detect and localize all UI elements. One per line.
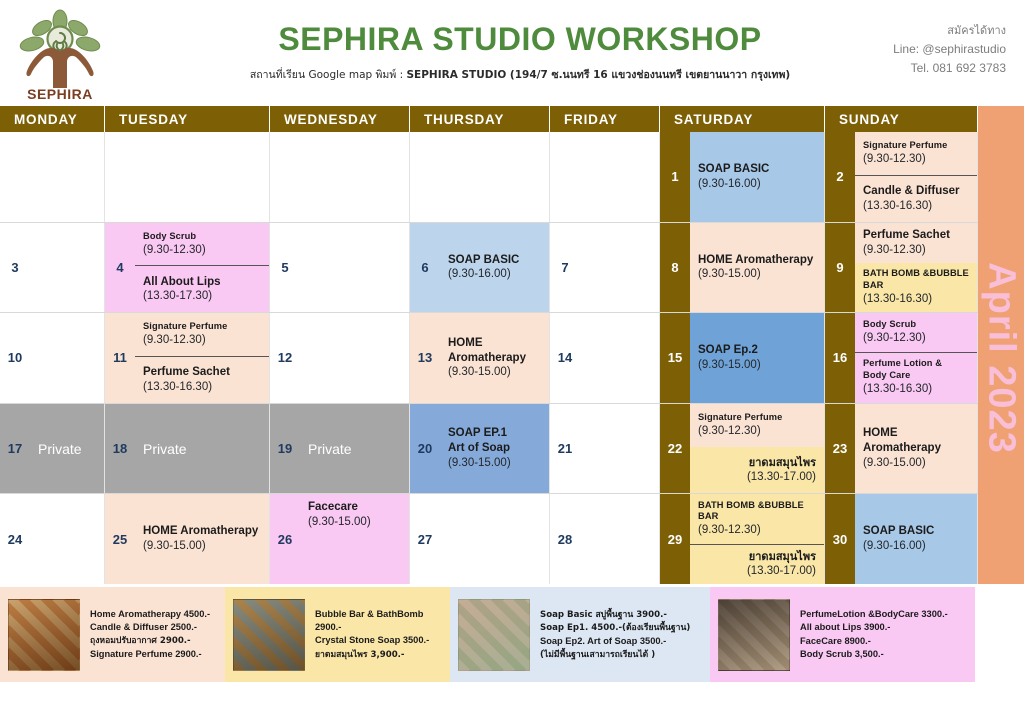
day-content <box>300 313 409 403</box>
legend-text-block: Bubble Bar & BathBomb2900.-Crystal Stone… <box>305 608 429 661</box>
calendar-day-cell[interactable] <box>0 132 105 222</box>
month-label: April 2023 <box>980 262 1023 454</box>
day-content: Private <box>300 404 409 494</box>
calendar-day-cell[interactable]: 18Private <box>105 404 270 494</box>
day-content: HOME Aromatherapy(9.30-15.00) <box>855 404 977 494</box>
day-content <box>300 132 409 222</box>
calendar-day-cell[interactable]: 10 <box>0 313 105 403</box>
event-title: SOAP BASIC <box>698 162 816 177</box>
day-header-spacer <box>978 106 1024 132</box>
calendar-day-cell[interactable]: 25HOME Aromatherapy(9.30-15.00) <box>105 494 270 584</box>
calendar-day-cell[interactable]: 13HOMEAromatherapy(9.30-15.00) <box>410 313 550 403</box>
event-time: (9.30-12.30) <box>863 331 969 346</box>
calendar-event[interactable]: Signature Perfume(9.30-12.30) <box>690 404 824 448</box>
legend-price-line: Bubble Bar & BathBomb <box>315 608 429 621</box>
day-number: 26 <box>270 494 300 584</box>
day-content <box>580 132 659 222</box>
legend-price-line: Soap Ep2. Art of Soap 3500.- <box>540 635 690 648</box>
day-number: 23 <box>825 404 855 494</box>
day-content <box>30 223 104 313</box>
title-block: SEPHIRA STUDIO WORKSHOP สถานที่เรียน Goo… <box>240 22 800 83</box>
price-legend-strip: Home Aromatherapy 4500.-Candle & Diffuse… <box>0 587 1024 682</box>
calendar-event[interactable]: HOME Aromatherapy(9.30-15.00) <box>690 223 824 313</box>
day-header-thursday: THURSDAY <box>410 106 550 132</box>
calendar-day-cell[interactable]: 26Facecare(9.30-15.00) <box>270 494 410 584</box>
day-content: SOAP BASIC(9.30-16.00) <box>440 223 549 313</box>
legend-card: Home Aromatherapy 4500.-Candle & Diffuse… <box>0 587 225 682</box>
legend-price-line: ยาดมสมุนไพร 3,900.- <box>315 648 429 661</box>
event-time: (13.30-16.30) <box>143 380 261 395</box>
day-number: 18 <box>105 404 135 494</box>
day-number <box>410 132 440 222</box>
legend-price-line: ถุงหอมปรับอากาศ 2900.- <box>90 634 210 647</box>
legend-price-line: Crystal Stone Soap 3500.- <box>315 634 429 647</box>
event-time: (9.30-12.30) <box>863 243 969 258</box>
calendar-event[interactable]: SOAP BASIC(9.30-16.00) <box>855 494 977 584</box>
event-title: HOME Aromatherapy <box>863 426 969 455</box>
calendar-week-row: 1011Signature Perfume(9.30-12.30)Perfume… <box>0 313 978 404</box>
day-number: 3 <box>0 223 30 313</box>
legend-price-line: Candle & Diffuser 2500.- <box>90 621 210 634</box>
event-title: Perfume Lotion &Body Care <box>863 358 969 382</box>
day-number: 16 <box>825 313 855 403</box>
day-number: 1 <box>660 132 690 222</box>
day-content: Signature Perfume(9.30-12.30)Candle & Di… <box>855 132 977 222</box>
calendar-event[interactable]: SOAP BASIC(9.30-16.00) <box>690 132 824 222</box>
contact-phone[interactable]: Tel. 081 692 3783 <box>893 59 1006 78</box>
calendar-event[interactable]: Perfume Sachet(13.30-16.30) <box>135 357 269 403</box>
calendar-day-cell[interactable]: 3 <box>0 223 105 313</box>
event-time: (9.30-12.30) <box>143 333 261 348</box>
calendar-week-row: 1SOAP BASIC(9.30-16.00)2Signature Perfum… <box>0 132 978 223</box>
day-content: SOAP EP.1Art of Soap(9.30-15.00) <box>440 404 549 494</box>
day-header-sunday: SUNDAY <box>825 106 978 132</box>
event-time: (9.30-12.30) <box>698 424 816 439</box>
calendar-day-cell[interactable]: 20SOAP EP.1Art of Soap(9.30-15.00) <box>410 404 550 494</box>
poster-header: SEPHIRA SEPHIRA STUDIO WORKSHOP สถานที่เ… <box>0 0 1024 106</box>
contact-signup-label: สมัครได้ทาง <box>893 22 1006 40</box>
legend-thai-text: Soap Basic สบู่พื้นฐาน 3900.- <box>540 610 667 620</box>
event-title: HOMEAromatherapy <box>448 336 541 365</box>
location-subtitle: สถานที่เรียน Google map พิมพ์ : SEPHIRA … <box>240 66 800 83</box>
calendar-day-cell[interactable]: 27 <box>410 494 550 584</box>
calendar-event[interactable]: Private <box>30 404 104 494</box>
event-time: (13.30-17.00) <box>747 564 816 579</box>
day-content: BATH BOMB &BUBBLE BAR(9.30-12.30)ยาดมสมุ… <box>690 494 824 584</box>
calendar-week-row: 2425HOME Aromatherapy(9.30-15.00)26Facec… <box>0 494 978 584</box>
day-content <box>580 223 659 313</box>
calendar-event[interactable]: Perfume Sachet(9.30-12.30) <box>855 223 977 263</box>
day-content: Body Scrub(9.30-12.30)Perfume Lotion &Bo… <box>855 313 977 403</box>
event-private-label: Private <box>308 441 401 457</box>
day-content <box>580 313 659 403</box>
event-time: (13.30-17.00) <box>747 470 816 485</box>
calendar-day-cell[interactable] <box>105 132 270 222</box>
calendar-day-cell[interactable]: 9Perfume Sachet(9.30-12.30)BATH BOMB &BU… <box>825 223 978 313</box>
day-header-tuesday: TUESDAY <box>105 106 270 132</box>
subtitle-address: SEPHIRA STUDIO (194/7 ซ.นนทรี 16 แขวงช่อ… <box>406 69 790 81</box>
legend-price-line: Signature Perfume 2900.- <box>90 648 210 661</box>
day-number: 14 <box>550 313 580 403</box>
day-number: 6 <box>410 223 440 313</box>
day-number: 13 <box>410 313 440 403</box>
day-number: 30 <box>825 494 855 584</box>
event-title: Body Scrub <box>143 231 261 243</box>
day-number: 12 <box>270 313 300 403</box>
day-number: 17 <box>0 404 30 494</box>
calendar-day-cell[interactable] <box>270 132 410 222</box>
day-content: Private <box>135 404 269 494</box>
event-time: (9.30-15.00) <box>863 456 969 471</box>
day-content: Private <box>30 404 104 494</box>
event-title: Perfume Sachet <box>143 365 261 380</box>
day-content: HOME Aromatherapy(9.30-15.00) <box>690 223 824 313</box>
event-time: (9.30-16.00) <box>863 539 969 554</box>
day-number <box>270 132 300 222</box>
event-private-label: Private <box>143 441 261 457</box>
day-number: 7 <box>550 223 580 313</box>
event-title: Facecare <box>308 500 401 515</box>
day-content <box>30 313 104 403</box>
event-time: (9.30-15.00) <box>448 365 541 380</box>
day-number: 27 <box>410 494 440 584</box>
legend-card: Soap Basic สบู่พื้นฐาน 3900.-Soap Ep1. 4… <box>450 587 710 682</box>
subtitle-prefix: สถานที่เรียน Google map พิมพ์ : <box>250 69 407 81</box>
calendar-event[interactable]: ยาดมสมุนไพร(13.30-17.00) <box>690 545 824 584</box>
legend-card: Bubble Bar & BathBomb2900.-Crystal Stone… <box>225 587 450 682</box>
event-title: Signature Perfume <box>143 321 261 333</box>
day-of-week-header: MONDAYTUESDAYWEDNESDAYTHURSDAYFRIDAYSATU… <box>0 106 1024 132</box>
calendar-day-cell[interactable]: 30SOAP BASIC(9.30-16.00) <box>825 494 978 584</box>
event-title: BATH BOMB &BUBBLE BAR <box>698 500 816 524</box>
day-content <box>440 132 549 222</box>
sephira-tree-hands-icon: SEPHIRA <box>12 6 108 102</box>
calendar-day-cell[interactable] <box>410 132 550 222</box>
calendar-week-row: 17Private18Private19Private20SOAP EP.1Ar… <box>0 404 978 495</box>
calendar-event[interactable]: Body Scrub(9.30-12.30) <box>135 223 269 267</box>
calendar-grid-wrapper: 1SOAP BASIC(9.30-16.00)2Signature Perfum… <box>0 132 1024 584</box>
calendar-day-cell[interactable]: 21 <box>550 404 660 494</box>
legend-price-line: (ไม่มีพื้นฐานเสามารถเรียนได้ ) <box>540 648 690 661</box>
calendar-day-cell[interactable]: 22Signature Perfume(9.30-12.30)ยาดมสมุนไ… <box>660 404 825 494</box>
day-header-saturday: SATURDAY <box>660 106 825 132</box>
day-content <box>580 494 659 584</box>
day-content: SOAP BASIC(9.30-16.00) <box>855 494 977 584</box>
day-number: 20 <box>410 404 440 494</box>
day-content <box>580 404 659 494</box>
day-number: 10 <box>0 313 30 403</box>
calendar-day-cell[interactable]: 29BATH BOMB &BUBBLE BAR(9.30-12.30)ยาดมส… <box>660 494 825 584</box>
legend-thai-text: ยาดมสมุนไพร 3,900.- <box>315 650 405 660</box>
logo-wordmark: SEPHIRA <box>27 86 93 102</box>
calendar-event[interactable]: SOAP EP.1Art of Soap(9.30-15.00) <box>440 404 549 494</box>
calendar-event[interactable]: SOAP Ep.2(9.30-15.00) <box>690 313 824 403</box>
day-content <box>135 132 269 222</box>
day-content <box>30 132 104 222</box>
day-content: Perfume Sachet(9.30-12.30)BATH BOMB &BUB… <box>855 223 977 313</box>
legend-text-block: PerfumeLotion &BodyCare 3300.-All about … <box>790 608 948 661</box>
calendar-event[interactable]: Candle & Diffuser(13.30-16.30) <box>855 176 977 222</box>
legend-thai-text: ถุงหอมปรับอากาศ 2900.- <box>90 636 191 646</box>
event-time: (9.30-12.30) <box>698 523 816 538</box>
event-time: (9.30-15.00) <box>448 456 541 471</box>
calendar-day-cell[interactable]: 6SOAP BASIC(9.30-16.00) <box>410 223 550 313</box>
calendar-event[interactable]: Body Scrub(9.30-12.30) <box>855 313 977 352</box>
day-content: Body Scrub(9.30-12.30)All About Lips(13.… <box>135 223 269 313</box>
page-title: SEPHIRA STUDIO WORKSHOP <box>240 22 800 57</box>
day-number <box>0 132 30 222</box>
calendar-day-cell[interactable]: 2Signature Perfume(9.30-12.30)Candle & D… <box>825 132 978 222</box>
day-number: 4 <box>105 223 135 313</box>
calendar-day-cell[interactable]: 24 <box>0 494 105 584</box>
event-title: Signature Perfume <box>863 140 969 152</box>
legend-card: PerfumeLotion &BodyCare 3300.-All about … <box>710 587 975 682</box>
day-number: 9 <box>825 223 855 313</box>
calendar-poster: SEPHIRA SEPHIRA STUDIO WORKSHOP สถานที่เ… <box>0 0 1024 713</box>
lotion-bottles-photo <box>718 599 790 671</box>
event-private-label: Private <box>38 441 96 457</box>
event-title: SOAP Ep.2 <box>698 343 816 358</box>
day-number: 2 <box>825 132 855 222</box>
calendar-event[interactable]: Private <box>300 404 409 494</box>
legend-text-block: Soap Basic สบู่พื้นฐาน 3900.-Soap Ep1. 4… <box>530 608 690 661</box>
legend-price-line: Home Aromatherapy 4500.- <box>90 608 210 621</box>
event-title: ยาดมสมุนไพร <box>749 456 816 470</box>
legend-price-line: 2900.- <box>315 621 429 634</box>
calendar-day-cell[interactable]: 7 <box>550 223 660 313</box>
day-number: 25 <box>105 494 135 584</box>
legend-price-line: Soap Basic สบู่พื้นฐาน 3900.- <box>540 608 690 621</box>
day-content <box>440 494 549 584</box>
day-number: 11 <box>105 313 135 403</box>
event-title: All About Lips <box>143 275 261 290</box>
calendar-event[interactable]: Facecare(9.30-15.00) <box>300 494 409 584</box>
day-content <box>300 223 409 313</box>
event-time: (9.30-16.00) <box>448 267 541 282</box>
month-sidebar: April 2023 <box>978 132 1024 584</box>
calendar-event[interactable]: ยาดมสมุนไพร(13.30-17.00) <box>690 447 824 493</box>
sephira-logo: SEPHIRA <box>12 6 108 102</box>
calendar-event[interactable]: BATH BOMB &BUBBLE BAR(9.30-12.30) <box>690 494 824 544</box>
event-title: Candle & Diffuser <box>863 184 969 199</box>
event-title: HOME Aromatherapy <box>143 524 261 539</box>
calendar-week-row: 34Body Scrub(9.30-12.30)All About Lips(1… <box>0 223 978 314</box>
calendar-event[interactable]: HOMEAromatherapy(9.30-15.00) <box>440 313 549 403</box>
day-content: HOME Aromatherapy(9.30-15.00) <box>135 494 269 584</box>
day-content: Signature Perfume(9.30-12.30)ยาดมสมุนไพร… <box>690 404 824 494</box>
calendar-event[interactable]: Perfume Lotion &Body Care(13.30-16.30) <box>855 353 977 403</box>
contact-line[interactable]: Line: @sephirastudio <box>893 40 1006 59</box>
calendar-day-cell[interactable]: 12 <box>270 313 410 403</box>
legend-price-line: PerfumeLotion &BodyCare 3300.- <box>800 608 948 621</box>
day-number: 29 <box>660 494 690 584</box>
event-time: (13.30-16.30) <box>863 199 969 214</box>
event-title: Perfume Sachet <box>863 228 969 243</box>
legend-thai-text: (ไม่มีพื้นฐานเสามารถเรียนได้ ) <box>540 650 655 660</box>
day-content: SOAP BASIC(9.30-16.00) <box>690 132 824 222</box>
calendar-day-cell[interactable]: 4Body Scrub(9.30-12.30)All About Lips(13… <box>105 223 270 313</box>
calendar-day-cell[interactable]: 11Signature Perfume(9.30-12.30)Perfume S… <box>105 313 270 403</box>
day-content: SOAP Ep.2(9.30-15.00) <box>690 313 824 403</box>
event-time: (9.30-15.00) <box>308 515 401 530</box>
event-time: (9.30-12.30) <box>863 152 969 167</box>
calendar-event[interactable]: BATH BOMB &BUBBLE BAR(13.30-16.30) <box>855 263 977 312</box>
calendar-day-cell[interactable]: 14 <box>550 313 660 403</box>
day-number: 15 <box>660 313 690 403</box>
home-aromatherapy-photo <box>8 599 80 671</box>
calendar-day-cell[interactable]: 16Body Scrub(9.30-12.30)Perfume Lotion &… <box>825 313 978 403</box>
legend-price-line: FaceCare 8900.- <box>800 635 948 648</box>
day-number: 22 <box>660 404 690 494</box>
event-title: BATH BOMB &BUBBLE BAR <box>863 268 969 292</box>
calendar-day-cell[interactable]: 5 <box>270 223 410 313</box>
calendar-event[interactable]: HOME Aromatherapy(9.30-15.00) <box>135 494 269 584</box>
day-content <box>30 494 104 584</box>
day-number: 28 <box>550 494 580 584</box>
calendar-day-cell[interactable]: 17Private <box>0 404 105 494</box>
calendar-day-cell[interactable]: 28 <box>550 494 660 584</box>
calendar-event[interactable]: HOME Aromatherapy(9.30-15.00) <box>855 404 977 494</box>
calendar-day-cell[interactable]: 15SOAP Ep.2(9.30-15.00) <box>660 313 825 403</box>
day-number: 21 <box>550 404 580 494</box>
event-title: ยาดมสมุนไพร <box>749 550 816 564</box>
day-header-wednesday: WEDNESDAY <box>270 106 410 132</box>
event-time: (13.30-16.30) <box>863 292 969 307</box>
contact-block: สมัครได้ทาง Line: @sephirastudio Tel. 08… <box>893 22 1006 79</box>
legend-thai-text: Soap Ep1. 4500.-(ต้องเรียนพื้นฐาน) <box>540 623 690 633</box>
legend-text-block: Home Aromatherapy 4500.-Candle & Diffuse… <box>80 608 210 661</box>
soap-bars-photo <box>458 599 530 671</box>
event-time: (9.30-15.00) <box>698 267 816 282</box>
day-header-friday: FRIDAY <box>550 106 660 132</box>
day-number: 5 <box>270 223 300 313</box>
calendar-event[interactable]: Signature Perfume(9.30-12.30) <box>855 132 977 176</box>
day-number: 24 <box>0 494 30 584</box>
bath-bomb-photo <box>233 599 305 671</box>
day-header-monday: MONDAY <box>0 106 105 132</box>
legend-price-line: All about Lips 3900.- <box>800 621 948 634</box>
event-time: (13.30-16.30) <box>863 382 969 397</box>
calendar-event[interactable]: SOAP BASIC(9.30-16.00) <box>440 223 549 313</box>
calendar-day-cell[interactable]: 23HOME Aromatherapy(9.30-15.00) <box>825 404 978 494</box>
calendar-day-cell[interactable]: 8HOME Aromatherapy(9.30-15.00) <box>660 223 825 313</box>
calendar-event[interactable]: Signature Perfume(9.30-12.30) <box>135 313 269 357</box>
calendar-day-cell[interactable]: 19Private <box>270 404 410 494</box>
day-number <box>105 132 135 222</box>
day-content: Signature Perfume(9.30-12.30)Perfume Sac… <box>135 313 269 403</box>
calendar-grid: 1SOAP BASIC(9.30-16.00)2Signature Perfum… <box>0 132 978 584</box>
legend-price-line: Body Scrub 3,500.- <box>800 648 948 661</box>
event-time: (9.30-15.00) <box>143 539 261 554</box>
calendar-day-cell[interactable]: 1SOAP BASIC(9.30-16.00) <box>660 132 825 222</box>
calendar-event[interactable]: All About Lips(13.30-17.30) <box>135 266 269 312</box>
event-title: SOAP BASIC <box>863 524 969 539</box>
day-content: HOMEAromatherapy(9.30-15.00) <box>440 313 549 403</box>
legend-strip-spacer <box>975 587 1024 682</box>
event-time: (9.30-12.30) <box>143 243 261 258</box>
day-number <box>550 132 580 222</box>
day-content: Facecare(9.30-15.00) <box>300 494 409 584</box>
event-time: (13.30-17.30) <box>143 289 261 304</box>
event-title: SOAP EP.1Art of Soap <box>448 426 541 455</box>
day-number: 8 <box>660 223 690 313</box>
event-title: Body Scrub <box>863 319 969 331</box>
event-time: (9.30-16.00) <box>698 177 816 192</box>
day-number: 19 <box>270 404 300 494</box>
event-time: (9.30-15.00) <box>698 358 816 373</box>
event-title: HOME Aromatherapy <box>698 253 816 268</box>
legend-price-line: Soap Ep1. 4500.-(ต้องเรียนพื้นฐาน) <box>540 621 690 634</box>
event-title: Signature Perfume <box>698 412 816 424</box>
event-title: SOAP BASIC <box>448 253 541 268</box>
calendar-day-cell[interactable] <box>550 132 660 222</box>
calendar-event[interactable]: Private <box>135 404 269 494</box>
